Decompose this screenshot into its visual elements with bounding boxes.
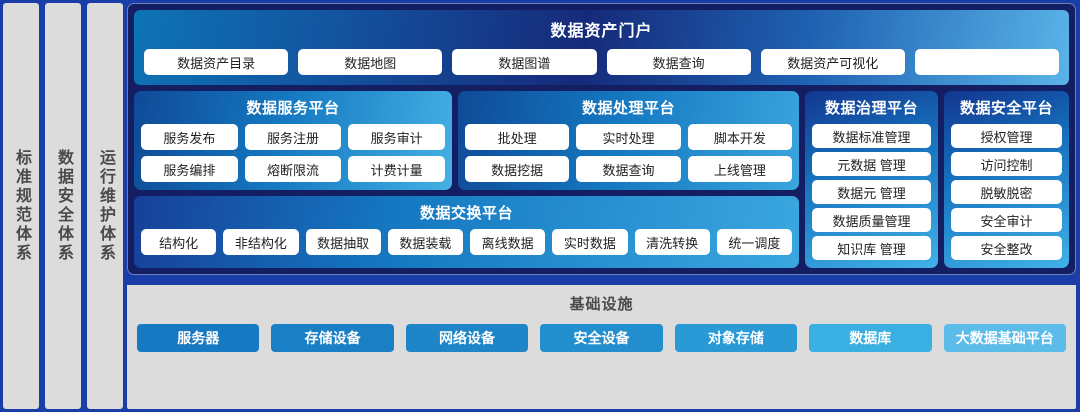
navy-container: 数据资产门户 数据资产目录 数据地图 数据图谱 数据查询 数据资产可视化 <box>127 3 1076 275</box>
exchange-item-cleanse-transform[interactable]: 清洗转换 <box>635 229 710 255</box>
infra-item-server[interactable]: 服务器 <box>137 324 259 352</box>
governance-platform-title: 数据治理平台 <box>812 97 931 118</box>
service-platform-title: 数据服务平台 <box>141 97 445 118</box>
infra-item-database[interactable]: 数据库 <box>809 324 931 352</box>
governance-platform-panel: 数据治理平台 数据标准管理 元数据 管理 数据元 管理 数据质量管理 知识库 管… <box>805 91 938 268</box>
infrastructure-panel: 基础设施 服务器 存储设备 网络设备 安全设备 对象存储 数据库 大数据基础平台 <box>127 279 1076 409</box>
governance-item-knowledge-base[interactable]: 知识库 管理 <box>812 236 931 260</box>
service-item-billing[interactable]: 计费计量 <box>348 156 445 182</box>
governance-item-data-standard[interactable]: 数据标准管理 <box>812 124 931 148</box>
exchange-item-unstructured[interactable]: 非结构化 <box>223 229 298 255</box>
security-item-audit[interactable]: 安全审计 <box>951 208 1062 232</box>
exchange-item-extract[interactable]: 数据抽取 <box>306 229 381 255</box>
security-platform-panel: 数据安全平台 授权管理 访问控制 脱敏脱密 安全审计 安全整改 <box>944 91 1069 268</box>
pillar-standard-spec[interactable]: 标准规范体系 <box>3 3 39 409</box>
security-item-authorization[interactable]: 授权管理 <box>951 124 1062 148</box>
main-stack: 数据资产门户 数据资产目录 数据地图 数据图谱 数据查询 数据资产可视化 <box>127 0 1080 412</box>
security-item-access-control[interactable]: 访问控制 <box>951 152 1062 176</box>
infra-item-object-storage[interactable]: 对象存储 <box>675 324 797 352</box>
pillar-data-security[interactable]: 数据安全体系 <box>45 3 81 409</box>
service-item-circuit-breaker[interactable]: 熔断限流 <box>245 156 342 182</box>
portal-item-empty[interactable] <box>915 49 1059 75</box>
process-item-mining[interactable]: 数据挖据 <box>465 156 569 182</box>
exchange-platform-panel: 数据交换平台 结构化 非结构化 数据抽取 数据装载 离线数据 实时数据 清洗转换… <box>134 196 799 268</box>
process-item-query[interactable]: 数据查询 <box>576 156 680 182</box>
portal-item-query[interactable]: 数据查询 <box>607 49 751 75</box>
service-row-2: 服务编排 熔断限流 计费计量 <box>141 156 445 182</box>
infrastructure-title: 基础设施 <box>137 293 1066 314</box>
infrastructure-items: 服务器 存储设备 网络设备 安全设备 对象存储 数据库 大数据基础平台 <box>137 324 1066 352</box>
process-row-1: 批处理 实时处理 脚本开发 <box>465 124 792 150</box>
platform-band: 数据服务平台 服务发布 服务注册 服务审计 服务编排 熔断限流 <box>134 91 1069 268</box>
exchange-item-load[interactable]: 数据装载 <box>388 229 463 255</box>
pillar-operations-maintenance[interactable]: 运行维护体系 <box>87 3 123 409</box>
service-platform-grid: 服务发布 服务注册 服务审计 服务编排 熔断限流 计费计量 <box>141 124 445 182</box>
exchange-item-offline-data[interactable]: 离线数据 <box>470 229 545 255</box>
service-platform-panel: 数据服务平台 服务发布 服务注册 服务审计 服务编排 熔断限流 <box>134 91 452 190</box>
process-item-batch[interactable]: 批处理 <box>465 124 569 150</box>
process-item-release-mgmt[interactable]: 上线管理 <box>688 156 792 182</box>
infra-item-network-device[interactable]: 网络设备 <box>406 324 528 352</box>
upper-platform-row: 数据服务平台 服务发布 服务注册 服务审计 服务编排 熔断限流 <box>134 91 799 190</box>
governance-items: 数据标准管理 元数据 管理 数据元 管理 数据质量管理 知识库 管理 <box>812 124 931 260</box>
security-platform-title: 数据安全平台 <box>951 97 1062 118</box>
process-item-realtime[interactable]: 实时处理 <box>576 124 680 150</box>
process-item-script-dev[interactable]: 脚本开发 <box>688 124 792 150</box>
service-row-1: 服务发布 服务注册 服务审计 <box>141 124 445 150</box>
governance-item-data-element[interactable]: 数据元 管理 <box>812 180 931 204</box>
portal-panel: 数据资产门户 数据资产目录 数据地图 数据图谱 数据查询 数据资产可视化 <box>134 10 1069 85</box>
security-item-desensitization[interactable]: 脱敏脱密 <box>951 180 1062 204</box>
governance-item-metadata[interactable]: 元数据 管理 <box>812 152 931 176</box>
portal-item-map[interactable]: 数据地图 <box>298 49 442 75</box>
process-platform-panel: 数据处理平台 批处理 实时处理 脚本开发 数据挖据 数据查询 <box>458 91 799 190</box>
portal-title: 数据资产门户 <box>144 17 1059 41</box>
exchange-item-unified-scheduling[interactable]: 统一调度 <box>717 229 792 255</box>
vertical-pillars-group: 标准规范体系 数据安全体系 运行维护体系 <box>0 0 127 412</box>
governance-item-data-quality[interactable]: 数据质量管理 <box>812 208 931 232</box>
service-item-audit[interactable]: 服务审计 <box>348 124 445 150</box>
process-row-2: 数据挖据 数据查询 上线管理 <box>465 156 792 182</box>
left-platform-stack: 数据服务平台 服务发布 服务注册 服务审计 服务编排 熔断限流 <box>134 91 799 268</box>
exchange-item-structured[interactable]: 结构化 <box>141 229 216 255</box>
exchange-item-realtime-data[interactable]: 实时数据 <box>552 229 627 255</box>
portal-items: 数据资产目录 数据地图 数据图谱 数据查询 数据资产可视化 <box>144 49 1059 75</box>
service-item-publish[interactable]: 服务发布 <box>141 124 238 150</box>
architecture-diagram: 标准规范体系 数据安全体系 运行维护体系 数据资产门户 数据资产目录 数据地图 … <box>0 0 1080 412</box>
portal-item-catalog[interactable]: 数据资产目录 <box>144 49 288 75</box>
portal-item-graph[interactable]: 数据图谱 <box>452 49 596 75</box>
service-item-register[interactable]: 服务注册 <box>245 124 342 150</box>
exchange-items: 结构化 非结构化 数据抽取 数据装载 离线数据 实时数据 清洗转换 统一调度 <box>141 229 792 255</box>
service-item-orchestration[interactable]: 服务编排 <box>141 156 238 182</box>
process-platform-title: 数据处理平台 <box>465 97 792 118</box>
security-item-rectification[interactable]: 安全整改 <box>951 236 1062 260</box>
infra-item-bigdata-platform[interactable]: 大数据基础平台 <box>944 324 1066 352</box>
pillar-label: 运行维护体系 <box>97 149 113 263</box>
infra-item-security-device[interactable]: 安全设备 <box>540 324 662 352</box>
exchange-platform-title: 数据交换平台 <box>141 202 792 223</box>
security-items: 授权管理 访问控制 脱敏脱密 安全审计 安全整改 <box>951 124 1062 260</box>
process-platform-grid: 批处理 实时处理 脚本开发 数据挖据 数据查询 上线管理 <box>465 124 792 182</box>
pillar-label: 数据安全体系 <box>55 149 71 263</box>
pillar-label: 标准规范体系 <box>13 149 29 263</box>
portal-item-visualization[interactable]: 数据资产可视化 <box>761 49 905 75</box>
infra-item-storage-device[interactable]: 存储设备 <box>271 324 393 352</box>
